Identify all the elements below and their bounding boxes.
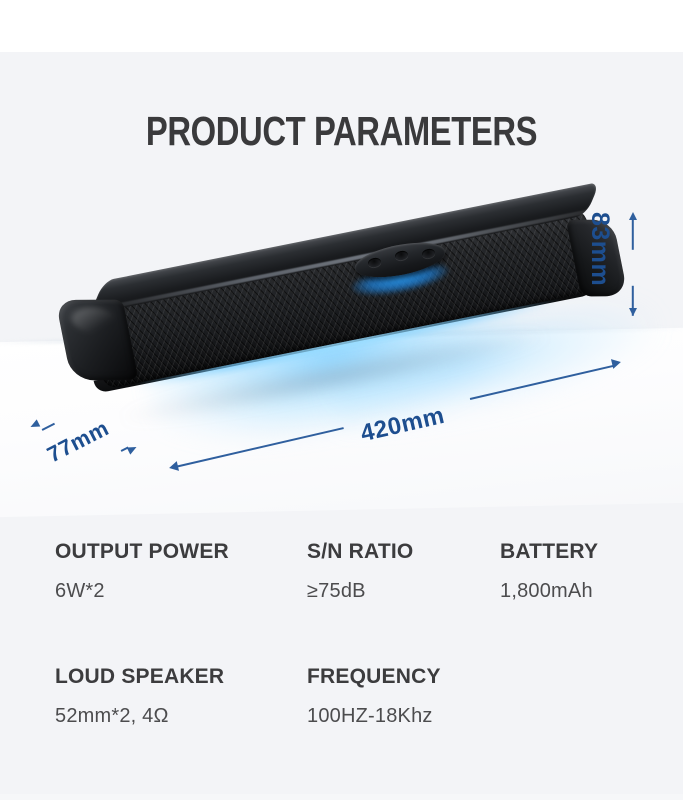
spec-cell-loud-speaker: LOUD SPEAKER 52mm*2, 4Ω (55, 665, 224, 728)
spec-label: LOUD SPEAKER (55, 665, 224, 689)
product-parameters-page: PRODUCT PARAMETERS (0, 0, 683, 800)
spec-value: 6W*2 (55, 580, 229, 603)
height-arrow-line-upper (632, 220, 634, 250)
spec-cell-sn-ratio: S/N RATIO ≥75dB (307, 540, 413, 603)
soundbar-body (62, 203, 622, 403)
spec-row: OUTPUT POWER 6W*2 S/N RATIO ≥75dB BATTER… (0, 540, 683, 665)
height-arrow-head-top (629, 212, 637, 220)
specifications-table: OUTPUT POWER 6W*2 S/N RATIO ≥75dB BATTER… (0, 540, 683, 790)
spec-label: S/N RATIO (307, 540, 413, 564)
spec-cell-output-power: OUTPUT POWER 6W*2 (55, 540, 229, 603)
spec-label: OUTPUT POWER (55, 540, 229, 564)
spec-label: BATTERY (500, 540, 598, 564)
height-arrow-head-bottom (629, 308, 637, 316)
spec-label: FREQUENCY (307, 665, 441, 689)
length-arrow-head-right (611, 357, 622, 369)
spec-cell-battery: BATTERY 1,800mAh (500, 540, 598, 603)
page-title: PRODUCT PARAMETERS (68, 108, 614, 155)
spec-value: 100HZ-18Khz (307, 705, 441, 728)
spec-value: 52mm*2, 4Ω (55, 705, 224, 728)
product-hero-scene (0, 185, 683, 505)
spec-row: LOUD SPEAKER 52mm*2, 4Ω FREQUENCY 100HZ-… (0, 665, 683, 790)
spec-value: ≥75dB (307, 580, 413, 603)
bottom-edge-strip (0, 794, 683, 800)
spec-cell-frequency: FREQUENCY 100HZ-18Khz (307, 665, 441, 728)
spec-value: 1,800mAh (500, 580, 598, 603)
top-white-strip (0, 0, 683, 52)
dimension-label-height: 83mm (585, 212, 614, 286)
